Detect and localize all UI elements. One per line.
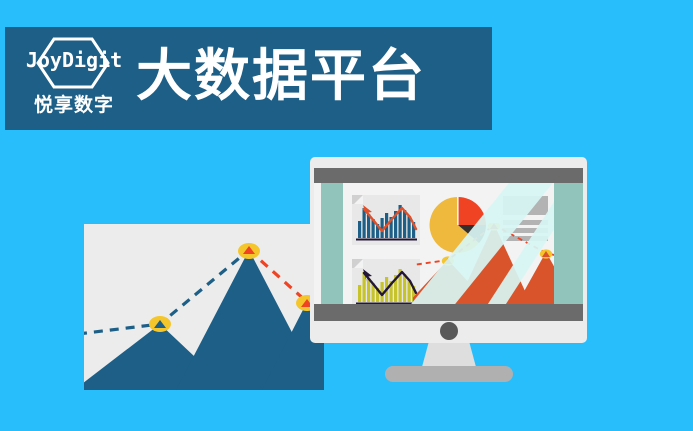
monitor-top-bezel [314, 168, 583, 183]
monitor-screen [314, 183, 583, 304]
text-block-header [503, 196, 548, 215]
olive-bar-chart-card[interactable] [352, 259, 420, 304]
logo-subtitle: 悦享数字 [19, 93, 129, 117]
mountain-trend-panel [84, 224, 324, 390]
dashboard-content [343, 183, 554, 304]
monitor-bottom-bezel [314, 304, 583, 321]
power-button-icon[interactable] [440, 322, 458, 340]
monitor-stand-base [385, 366, 513, 382]
area-mountain-shapes [413, 224, 554, 304]
mountain-area-chart[interactable] [413, 223, 554, 304]
screen-side-band-right [554, 183, 583, 304]
logo-wordmark: JoyDigit [19, 49, 129, 71]
desktop-monitor [310, 157, 587, 343]
blue-bar-chart-card[interactable] [352, 195, 420, 245]
header-banner: JoyDigit 悦享数字 大数据平台 [5, 27, 492, 130]
poster-canvas: JoyDigit 悦享数字 大数据平台 [0, 0, 693, 431]
axis-line [356, 239, 417, 241]
page-title: 大数据平台 [136, 41, 426, 113]
mountain-shapes [84, 250, 324, 390]
screen-side-band-left [321, 183, 343, 304]
monitor-stand-neck [422, 343, 476, 367]
pie-slice-red [458, 197, 486, 225]
brand-logo: JoyDigit 悦享数字 [19, 35, 129, 123]
